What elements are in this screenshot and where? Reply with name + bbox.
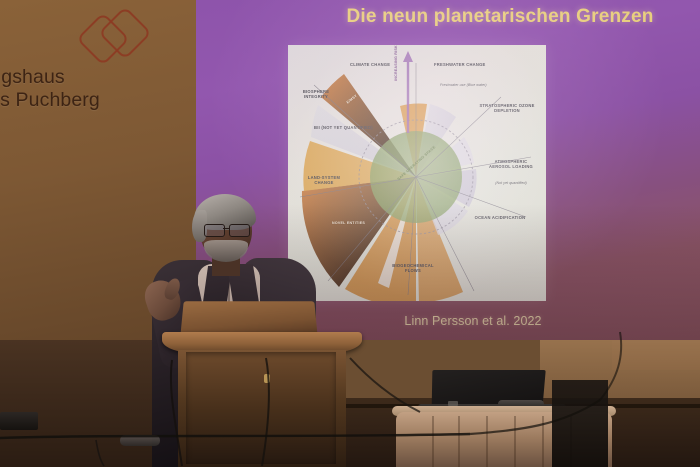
label-stratospheric-ozone-depletion: STRATOSPHERIC OZONE DEPLETION: [474, 103, 540, 113]
label-aerosol-sub: (Not yet quantified): [484, 181, 538, 186]
label-land-system-change: LAND-SYSTEM CHANGE: [298, 175, 350, 185]
venue-banner: ldungshaus hloss Puchberg: [0, 6, 178, 134]
label-atmospheric-aerosol-loading: ATMOSPHERIC AEROSOL LOADING: [484, 159, 538, 169]
label-freshwater-sub: Freshwater use (Blue water): [440, 83, 487, 88]
floor-cables: [0, 330, 700, 467]
label-freshwater-change: FRESHWATER CHANGE: [434, 62, 485, 67]
label-increasing-risk: Increasing risk: [394, 45, 399, 81]
label-biosphere-integrity: BIOSPHERE INTEGRITY: [292, 89, 340, 99]
presentation-photo: ldungshaus hloss Puchberg Die neun plane…: [0, 0, 700, 467]
speaker-glasses: [204, 224, 250, 235]
venue-name-line1: ldungshaus: [0, 66, 178, 89]
label-climate-change: CLIMATE CHANGE: [350, 62, 390, 67]
label-biogeochemical-flows: BIOGEOCHEMICAL FLOWS: [384, 263, 442, 273]
interlocking-diamonds-logo: [82, 12, 146, 64]
venue-name-line2: hloss Puchberg: [0, 89, 178, 112]
venue-name: ldungshaus hloss Puchberg: [0, 66, 178, 112]
label-bii: BII (Not yet quantified): [314, 125, 373, 130]
speaker-beard: [204, 240, 248, 262]
label-ocean-acidification: OCEAN ACIDIFICATION: [474, 215, 526, 220]
slide-title: Die neun planetarischen Grenzen: [196, 6, 700, 28]
